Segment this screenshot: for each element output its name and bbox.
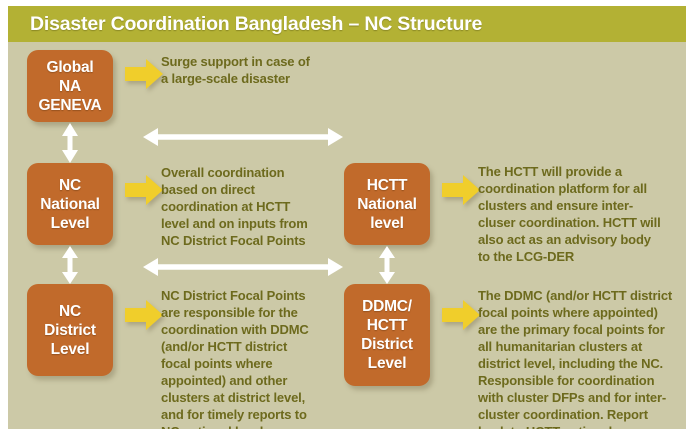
node-nc-national-level[interactable]: NC National Level	[27, 163, 113, 245]
node-global-na-geneva[interactable]: Global NA GENEVA	[27, 50, 113, 122]
header-bar: Disaster Coordination Bangladesh – NC St…	[8, 6, 686, 42]
connector-global-to-nc-national-icon	[61, 123, 79, 163]
callout-arrow-global-icon	[125, 59, 163, 89]
callout-arrow-nc-district-icon	[125, 300, 163, 330]
node-nc-district-level[interactable]: NC District Level	[27, 284, 113, 376]
node-nc-national-level-label: NC National Level	[40, 176, 100, 233]
node-ddmc-hctt-district-level-label: DDMC/ HCTT District Level	[361, 297, 413, 373]
description-nc-national-level: Overall coordination based on direct coo…	[161, 164, 341, 249]
node-global-na-geneva-label: Global NA GENEVA	[38, 58, 101, 115]
callout-arrow-ddmc-district-icon	[442, 300, 480, 330]
diagram-canvas: Global NA GENEVA Surge support in case o…	[8, 42, 686, 429]
page-title: Disaster Coordination Bangladesh – NC St…	[30, 13, 482, 36]
callout-arrow-hctt-national-icon	[442, 175, 480, 205]
description-nc-district-level: NC District Focal Points are responsible…	[161, 287, 351, 429]
callout-arrow-nc-national-icon	[125, 175, 163, 205]
node-hctt-national-level-label: HCTT National level	[357, 176, 417, 233]
connector-nc-district-to-ddmc-district-icon	[143, 255, 343, 279]
connector-hctt-national-to-ddmc-district-icon	[378, 246, 396, 284]
connector-nc-national-to-hctt-national-icon	[143, 125, 343, 149]
description-global-na-geneva: Surge support in case of a large-scale d…	[161, 53, 351, 87]
description-ddmc-hctt-district-level: The DDMC (and/or HCTT district focal poi…	[478, 287, 686, 429]
diagram-root: Disaster Coordination Bangladesh – NC St…	[0, 0, 694, 440]
node-nc-district-level-label: NC District Level	[44, 302, 96, 359]
node-ddmc-hctt-district-level[interactable]: DDMC/ HCTT District Level	[344, 284, 430, 386]
connector-nc-national-to-nc-district-icon	[61, 246, 79, 284]
description-hctt-national-level: The HCTT will provide a coordination pla…	[478, 163, 678, 265]
node-hctt-national-level[interactable]: HCTT National level	[344, 163, 430, 245]
